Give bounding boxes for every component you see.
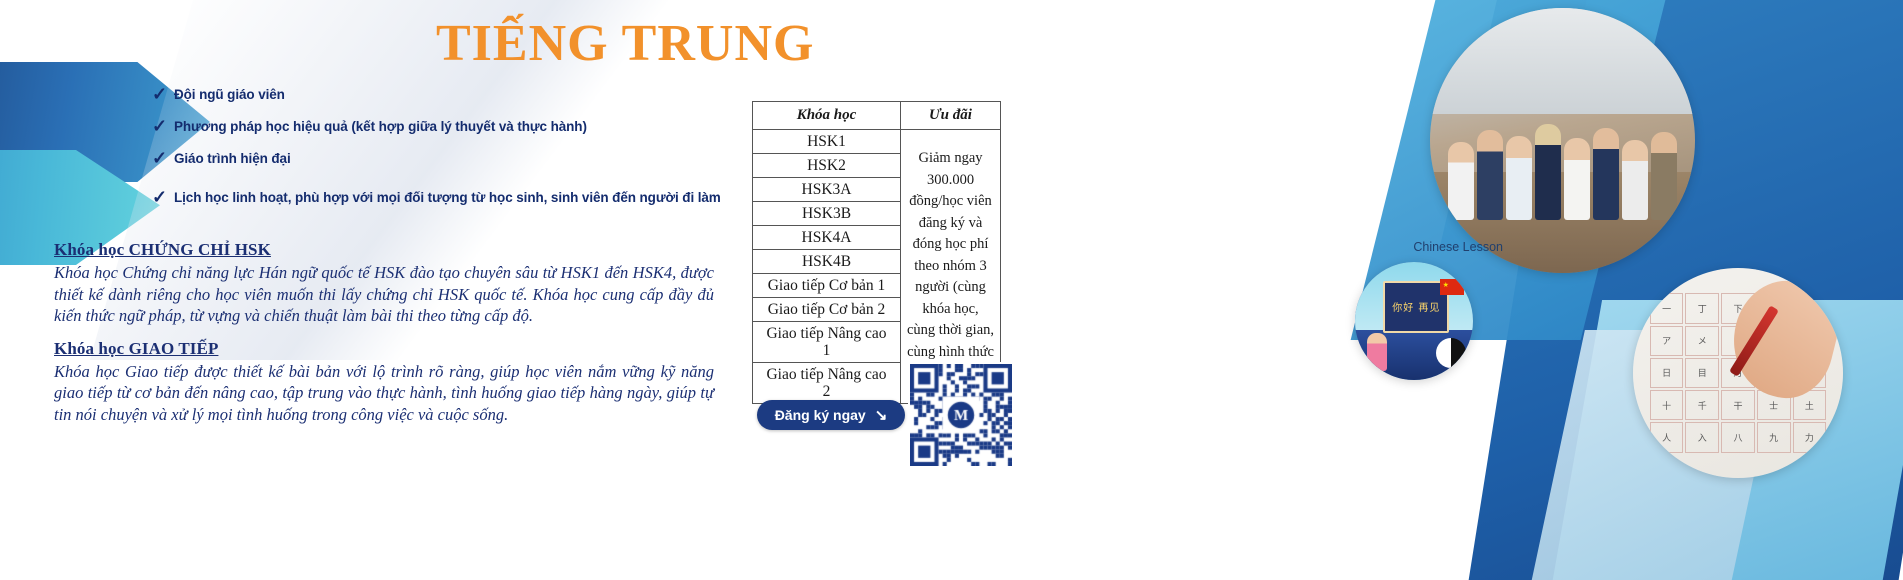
banner-artwork: Chinese Lesson 你好 再见 ★ 一 丁 下 火 大 ア メ ヌ ネ	[1183, 0, 1903, 580]
grid-cell: 干	[1721, 390, 1755, 420]
check-icon: ✓	[152, 118, 174, 135]
arrow-down-right-icon: ↘	[875, 408, 888, 423]
qr-code-icon[interactable]	[908, 362, 1014, 468]
check-icon: ✓	[152, 150, 174, 167]
cell-course-name: Giao tiếp Nâng cao 2	[753, 363, 901, 404]
cell-course-name: Giao tiếp Cơ bản 1	[753, 274, 901, 298]
column-header-promo: Ưu đãi	[901, 102, 1001, 130]
register-now-button[interactable]: Đăng ký ngay ↘	[757, 400, 905, 430]
grid-cell: 丁	[1685, 293, 1719, 323]
grid-cell: メ	[1685, 326, 1719, 356]
course-descriptions: Khóa học CHỨNG CHỈ HSK Khóa học Chứng ch…	[54, 240, 714, 437]
grid-cell: 力	[1793, 422, 1827, 452]
grid-cell: 人	[1650, 422, 1684, 452]
list-item: ✓ Lịch học linh hoạt, phù hợp với mọi đố…	[152, 189, 792, 206]
cell-course-name: HSK4B	[753, 250, 901, 274]
feature-label: Giáo trình hiện đại	[174, 150, 291, 167]
list-item: ✓ Phương pháp học hiệu quả (kết hợp giữa…	[152, 118, 792, 135]
yin-yang-icon	[1436, 338, 1466, 368]
grid-cell: 一	[1650, 293, 1684, 323]
person-figure	[1651, 132, 1677, 220]
check-icon: ✓	[152, 86, 174, 103]
pricing-table: Khóa học Ưu đãi HSK1 Giảm ngay 300.000 đ…	[752, 101, 1001, 404]
illustration-teacher	[1367, 333, 1387, 371]
person-figure	[1564, 138, 1590, 220]
cell-course-name: HSK3A	[753, 178, 901, 202]
grid-cell: 入	[1685, 422, 1719, 452]
course-body: Khóa học Giao tiếp được thiết kế bài bản…	[54, 361, 714, 426]
cell-course-name: HSK1	[753, 130, 901, 154]
tieng-trung-promo-banner: TIẾNG TRUNG ✓ Đội ngũ giáo viên ✓ Phương…	[0, 0, 1903, 580]
cell-course-name: HSK2	[753, 154, 901, 178]
cell-course-name: HSK3B	[753, 202, 901, 226]
cell-course-name: Giao tiếp Cơ bản 2	[753, 298, 901, 322]
person-figure	[1448, 142, 1474, 220]
grid-cell: 八	[1721, 422, 1755, 452]
course-heading: Khóa học GIAO TIẾP	[54, 339, 714, 359]
column-header-course: Khóa học	[753, 102, 901, 130]
china-flag-icon: ★	[1440, 279, 1464, 295]
person-figure	[1622, 140, 1648, 220]
grid-cell: 九	[1757, 422, 1791, 452]
chinese-lesson-illustration: 你好 再见 ★	[1355, 262, 1473, 380]
photo-people	[1430, 88, 1695, 221]
course-heading: Khóa học CHỨNG CHỈ HSK	[54, 240, 714, 260]
feature-label: Đội ngũ giáo viên	[174, 86, 285, 103]
classroom-group-photo	[1430, 8, 1695, 273]
page-title: TIẾNG TRUNG	[436, 14, 814, 73]
grid-cell: ア	[1650, 326, 1684, 356]
feature-label: Phương pháp học hiệu quả (kết hợp giữa l…	[174, 118, 587, 135]
table-row: HSK1 Giảm ngay 300.000 đồng/học viên đăn…	[753, 130, 1001, 154]
cell-course-name: HSK4A	[753, 226, 901, 250]
handwriting-practice-photo: 一 丁 下 火 大 ア メ ヌ ネ 文 日 目 月 田 由 十 千 干 士 土	[1633, 268, 1843, 478]
person-figure	[1506, 136, 1532, 220]
person-figure	[1593, 128, 1619, 220]
check-icon: ✓	[152, 189, 174, 206]
person-figure	[1535, 124, 1561, 220]
grid-cell: 千	[1685, 390, 1719, 420]
grid-cell: 日	[1650, 358, 1684, 388]
flag-star: ★	[1443, 282, 1449, 289]
course-block-giaotiep: Khóa học GIAO TIẾP Khóa học Giao tiếp đư…	[54, 339, 714, 426]
grid-cell: 目	[1685, 358, 1719, 388]
register-now-label: Đăng ký ngay	[775, 407, 866, 423]
cell-course-name: Giao tiếp Nâng cao 1	[753, 322, 901, 363]
course-block-hsk: Khóa học CHỨNG CHỈ HSK Khóa học Chứng ch…	[54, 240, 714, 327]
list-item: ✓ Giáo trình hiện đại	[152, 150, 792, 167]
feature-label: Lịch học linh hoạt, phù hợp với mọi đối …	[174, 189, 721, 206]
chinese-lesson-label: Chinese Lesson	[1413, 240, 1503, 254]
person-figure	[1477, 130, 1503, 220]
grid-cell: 十	[1650, 390, 1684, 420]
course-body: Khóa học Chứng chỉ năng lực Hán ngữ quốc…	[54, 262, 714, 327]
feature-list: ✓ Đội ngũ giáo viên ✓ Phương pháp học hi…	[152, 86, 792, 221]
table-header-row: Khóa học Ưu đãi	[753, 102, 1001, 130]
list-item: ✓ Đội ngũ giáo viên	[152, 86, 792, 103]
